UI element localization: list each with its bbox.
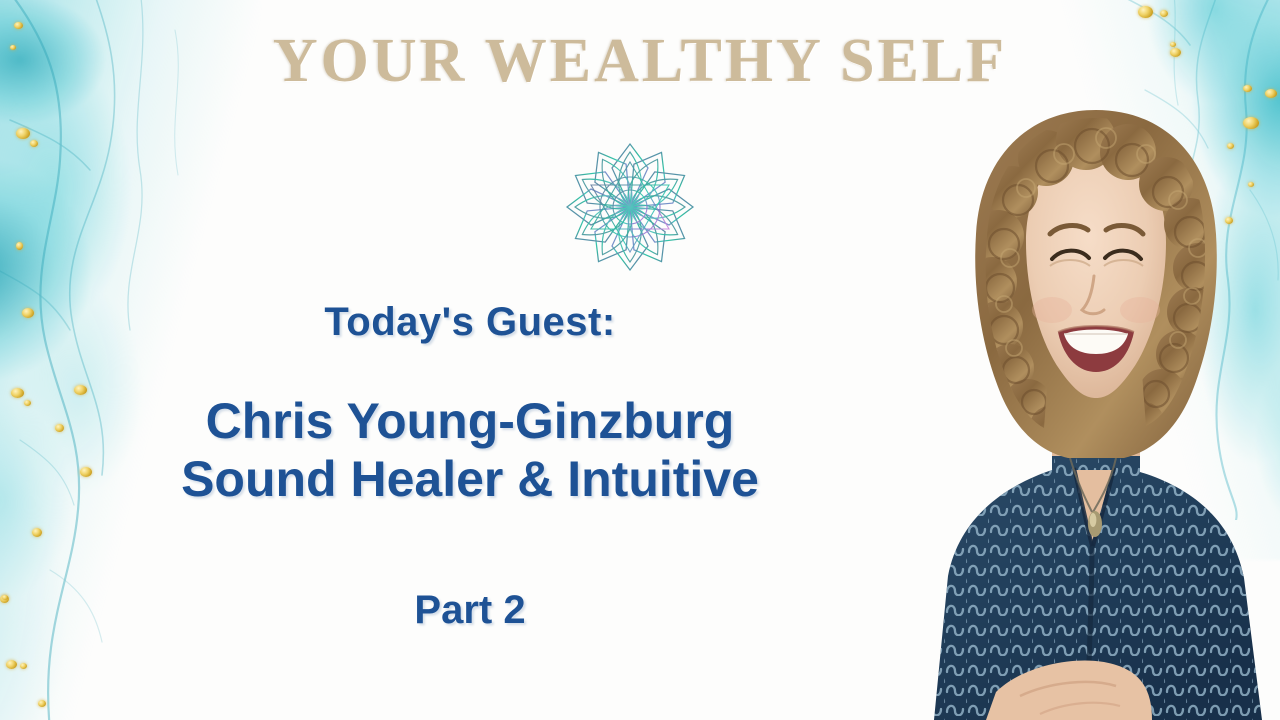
gold-fleck [30, 140, 38, 147]
part-label: Part 2 [0, 588, 940, 633]
guest-name: Chris Young-Ginzburg [0, 392, 940, 450]
gold-fleck [6, 660, 17, 669]
sacred-geometry-mandala-icon [563, 140, 697, 274]
gold-fleck [38, 700, 46, 707]
gold-fleck [1138, 6, 1153, 18]
presentation-slide: YOUR WEALTHY SELF [0, 0, 1280, 720]
show-title: YOUR WEALTHY SELF [0, 26, 1280, 97]
gold-fleck [32, 528, 42, 537]
guest-label: Today's Guest: [0, 300, 940, 345]
guest-role: Sound Healer & Intuitive [0, 450, 940, 508]
gold-fleck [20, 663, 27, 669]
gold-fleck [16, 242, 23, 250]
gold-fleck [16, 128, 30, 139]
guest-portrait [900, 96, 1280, 720]
gold-fleck [1160, 10, 1168, 17]
